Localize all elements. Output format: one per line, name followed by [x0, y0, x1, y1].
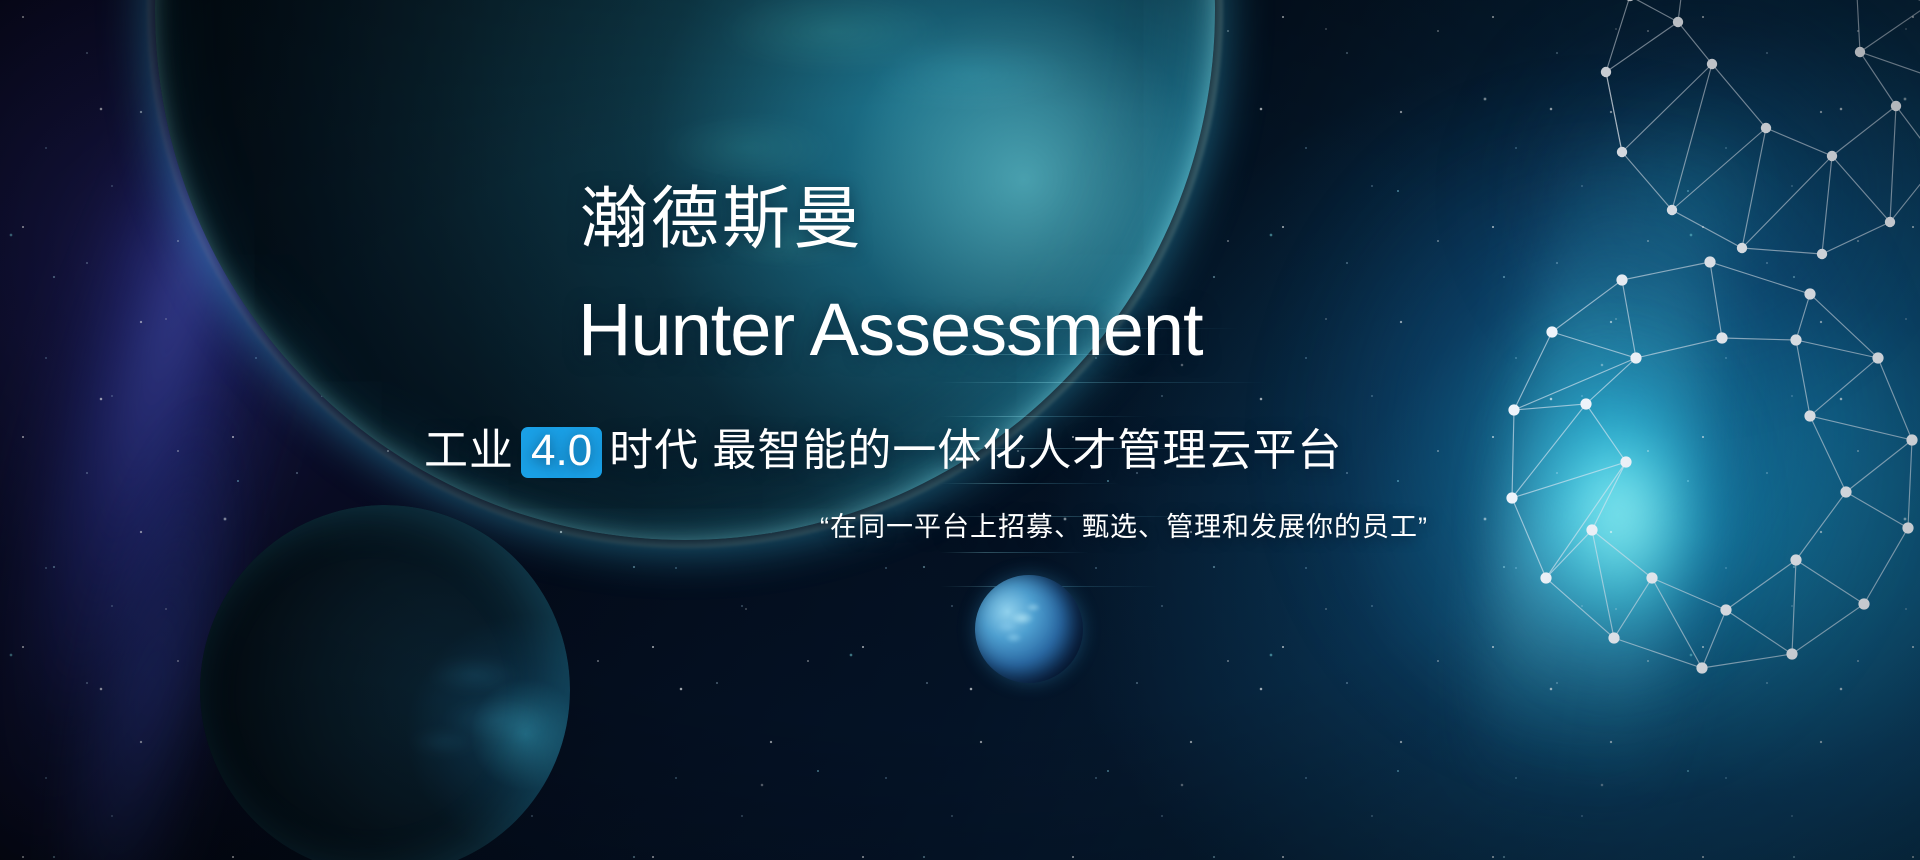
subtitle-text-before: 工业: [424, 425, 514, 477]
tagline-quote: “在同一平台上招募、甄选、管理和发展你的员工”: [820, 505, 1428, 544]
brand-title-english: Hunter Assessment: [578, 293, 1203, 367]
brand-title-chinese: 瀚德斯曼: [580, 185, 864, 253]
hero-banner: 瀚德斯曼 Hunter Assessment 工业 4.0 时代 最智能的一体化…: [0, 0, 1920, 860]
industry-version-badge: 4.0: [521, 427, 602, 478]
hero-text-block: 瀚德斯曼 Hunter Assessment 工业 4.0 时代 最智能的一体化…: [0, 0, 1920, 860]
subtitle-text-after: 时代 最智能的一体化人才管理云平台: [609, 425, 1342, 477]
subtitle-line: 工业 4.0 时代 最智能的一体化人才管理云平台: [424, 425, 1342, 478]
